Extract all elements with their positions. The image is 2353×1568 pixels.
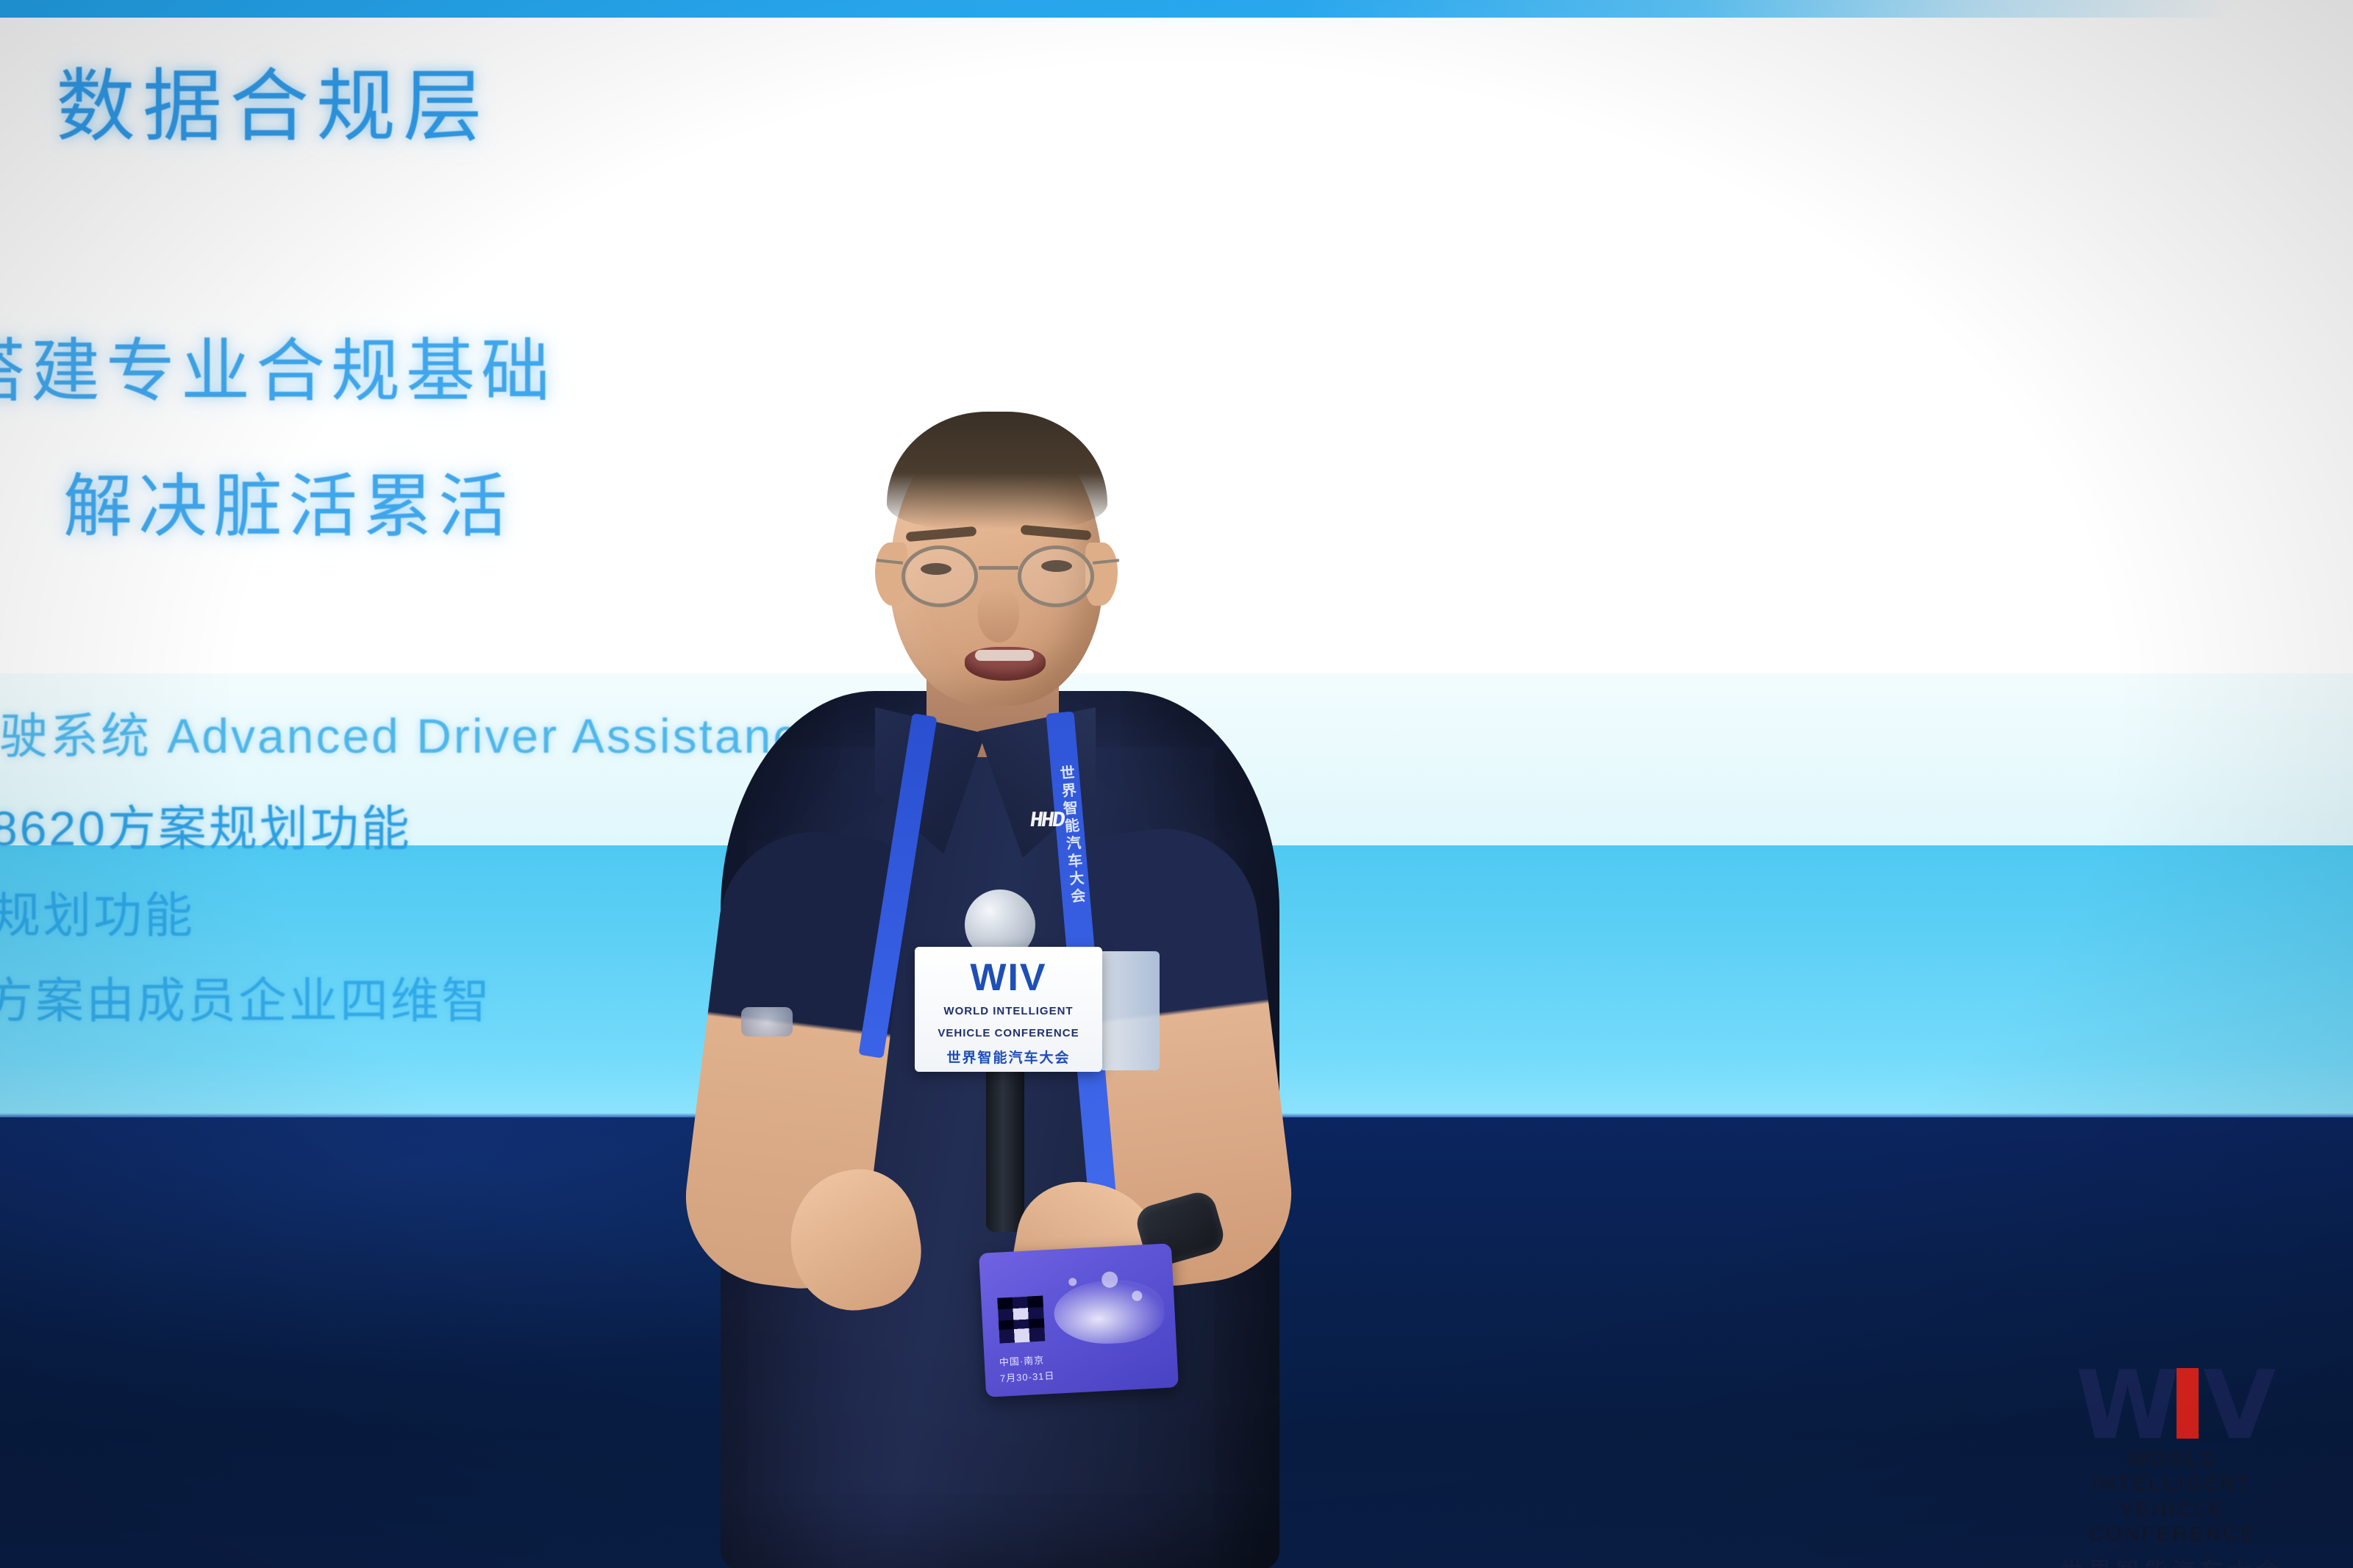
slide-subtitle-line-2: 解决脏活累活 — [63, 470, 513, 543]
mic-flag-side-panel — [1102, 951, 1160, 1070]
wiv-letter-w: W — [2076, 1370, 2172, 1443]
glasses-lens-right — [1018, 545, 1094, 607]
glasses-lens-left — [901, 545, 978, 607]
speaker-figure: 世界智能汽车大会 WIV WORLD INTELLIGENT VEHICLE C… — [632, 419, 1338, 1568]
badge-qr-code — [997, 1296, 1045, 1344]
badge-dot — [1068, 1278, 1077, 1286]
glasses-bridge — [979, 566, 1018, 570]
speaker-nose — [978, 588, 1019, 642]
speaker-hair — [887, 412, 1107, 529]
presentation-photo-stage: 数据合规层 搭建专业合规基础 解决脏活累活 驾驶系统 Advanced Driv… — [0, 0, 2353, 1568]
slide-body-line-3: 案规划功能 — [0, 876, 195, 947]
wiv-wordmark: W V — [2056, 1361, 2288, 1443]
mic-flag-chinese: 世界智能汽车大会 — [915, 1047, 1102, 1067]
microphone-handle — [986, 1048, 1024, 1232]
mic-flag-english-line-1: WORLD INTELLIGENT — [915, 1004, 1102, 1019]
slide-title: 数据合规层 — [56, 65, 490, 148]
screen-top-blue-bar — [0, 0, 2353, 18]
slide-subtitle-line-1: 搭建专业合规基础 — [0, 335, 556, 408]
wiv-letter-v: V — [2203, 1370, 2268, 1443]
badge-car-graphic — [1052, 1278, 1165, 1347]
mic-flag-brand: WIV — [915, 959, 1102, 997]
wiv-letter-i-bar — [2177, 1368, 2199, 1439]
badge-location: 中国·南京 — [999, 1353, 1044, 1369]
corner-logo-chinese: 世界智能汽车大会 — [2056, 1553, 2288, 1568]
corner-logo-english-line-2: VEHICLE CONFERENCE — [2056, 1498, 2288, 1547]
badge-date: 7月30-31日 — [999, 1368, 1054, 1385]
speaker-teeth — [975, 650, 1034, 661]
conference-badge: 中国·南京 7月30-31日 — [979, 1243, 1179, 1397]
slide-body-line-2: A8620方案规划功能 — [0, 790, 412, 860]
corner-wiv-logo: W V WORLD INTELLIGENT VEHICLE CONFERENCE… — [2056, 1361, 2288, 1531]
shirt-logo: HHD — [1027, 809, 1149, 840]
mic-flag-english-line-2: VEHICLE CONFERENCE — [915, 1026, 1102, 1041]
sleeve-emblem — [741, 1007, 793, 1037]
mic-flag-box: WIV WORLD INTELLIGENT VEHICLE CONFERENCE… — [915, 947, 1102, 1072]
slide-body-line-4: 决方案由成员企业四维智 — [0, 962, 492, 1032]
